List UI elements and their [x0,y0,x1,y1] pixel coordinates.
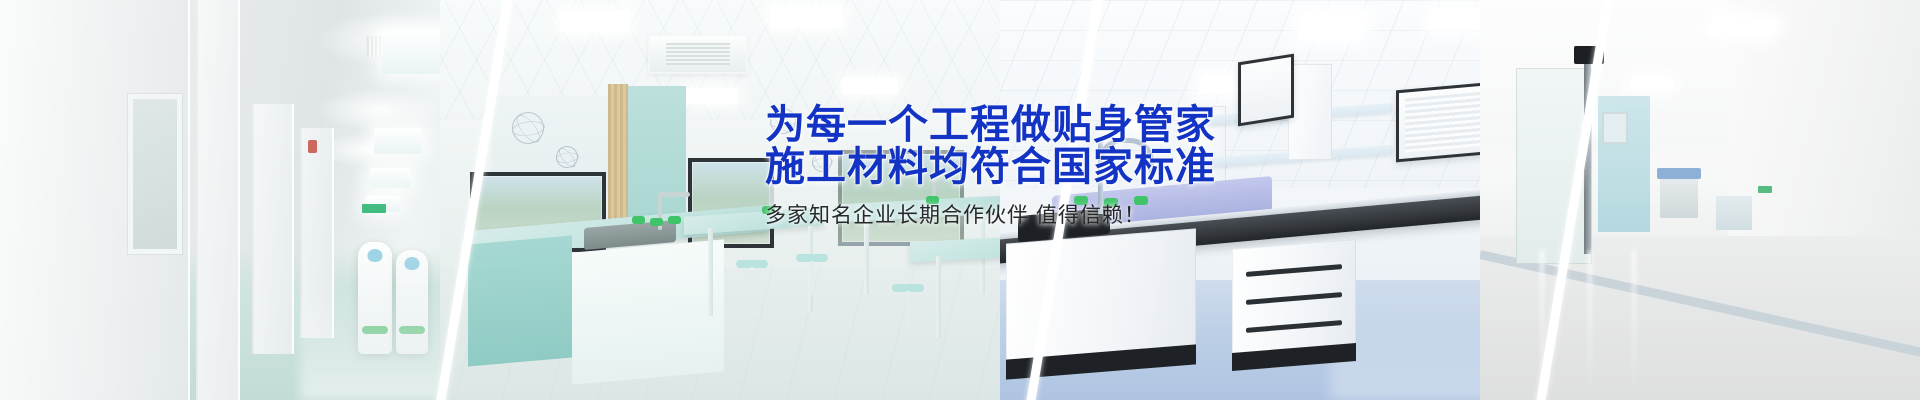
banner-subtitle: 多家知名企业长期合作伙伴 值得信赖！ [765,203,1216,229]
floor-reflection [1540,250,1544,400]
lab-stool-icon [736,260,768,268]
tall-cabinet-icon [1288,64,1332,160]
ceiling-light-icon [560,10,630,32]
hospital-cart-icon [1660,176,1698,218]
ceiling-light-icon [1428,8,1485,30]
door-rail-icon [1584,54,1591,254]
fume-hood-window-icon [1238,54,1294,127]
exit-sign-icon [1758,186,1772,193]
banner-copy: 为每一个工程做贴身管家 施工材料均符合国家标准 多家知名企业长期合作伙伴 值得信… [765,104,1216,229]
hospital-corridor-scene [1480,0,1920,400]
sliding-door-panel-icon [1516,68,1592,264]
gas-tap-handle-icon [650,218,663,226]
ceiling-light-icon [374,128,422,154]
floor-reflection [1588,250,1592,400]
ceiling-light-icon [842,78,898,94]
alarm-box-icon [308,140,317,153]
ceiling-light-icon [686,88,738,104]
bench-leg [936,256,941,338]
hero-banner: 为每一个工程做贴身管家 施工材料均符合国家标准 多家知名企业长期合作伙伴 值得信… [0,0,1920,400]
headline-line-2: 施工材料均符合国家标准 [765,146,1216,188]
ceiling-light-icon [770,6,842,28]
lab-stool-icon [796,254,828,262]
headline-line-1: 为每一个工程做贴身管家 [765,104,1216,146]
banner-image-hospital-corridor [1480,0,1920,400]
lab-stool-icon [892,284,924,292]
far-doors-icon [1716,196,1752,230]
door-motor-box-icon [1574,46,1604,64]
wood-slat-column [608,84,628,238]
gas-tap-handle-icon [632,216,645,224]
ceiling-light-icon [1297,12,1367,40]
lab-bench-cabinet [468,235,572,366]
cassette-air-conditioner-icon [648,34,748,74]
wall-panel-second-icon [196,0,240,400]
gas-tap-handle-icon [668,216,681,224]
viewing-window-icon [128,94,182,254]
corridor-door-icon [252,104,294,354]
faucet-spout-icon [658,192,690,197]
bench-leg [708,228,713,316]
ceiling-light-icon [382,30,444,74]
floor-reflection [1632,250,1636,400]
lab-bench-cabinet [572,239,724,384]
ceiling-light-icon [370,168,410,188]
exit-sign-icon [362,204,386,213]
banner-headline: 为每一个工程做贴身管家 施工材料均符合国家标准 [765,104,1216,188]
door-window-icon [1602,112,1628,144]
